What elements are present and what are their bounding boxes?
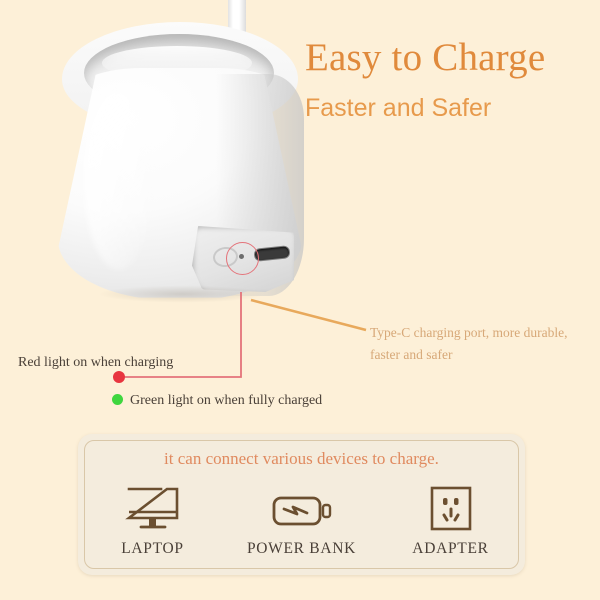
infographic-canvas: Easy to Charge Faster and Safer Type-C c… bbox=[0, 0, 600, 600]
product-image bbox=[40, 0, 320, 324]
devices-panel: it can connect various devices to charge… bbox=[78, 434, 525, 575]
annotation-typec: Type-C charging port, more durable, fast… bbox=[370, 322, 585, 366]
wall-outlet-icon bbox=[381, 482, 521, 538]
device-item-power-bank[interactable]: POWER BANK bbox=[232, 482, 372, 558]
green-indicator-dot bbox=[112, 394, 123, 405]
devices-row: LAPTOP POWER BANK bbox=[78, 482, 525, 570]
lamp-body-highlight bbox=[84, 90, 154, 270]
annotation-typec-line2: faster and safer bbox=[370, 347, 452, 362]
device-item-laptop[interactable]: LAPTOP bbox=[83, 482, 223, 558]
device-label-laptop: LAPTOP bbox=[83, 540, 223, 558]
annotation-typec-line1: Type-C charging port, more durable, bbox=[370, 322, 585, 344]
product-shadow bbox=[66, 282, 298, 306]
page-subtitle: Faster and Safer bbox=[305, 95, 585, 123]
devices-panel-title: it can connect various devices to charge… bbox=[78, 449, 525, 469]
led-highlight-circle bbox=[226, 242, 259, 275]
annotation-green-light: Green light on when fully charged bbox=[130, 393, 322, 409]
battery-bolt-icon bbox=[232, 482, 372, 538]
red-indicator-dot bbox=[113, 371, 125, 383]
device-label-power-bank: POWER BANK bbox=[232, 540, 372, 558]
device-label-adapter: ADAPTER bbox=[381, 540, 521, 558]
monitor-icon bbox=[83, 482, 223, 538]
device-item-adapter[interactable]: ADAPTER bbox=[381, 482, 521, 558]
page-title: Easy to Charge bbox=[305, 38, 585, 79]
annotation-red-light: Red light on when charging bbox=[18, 355, 173, 371]
